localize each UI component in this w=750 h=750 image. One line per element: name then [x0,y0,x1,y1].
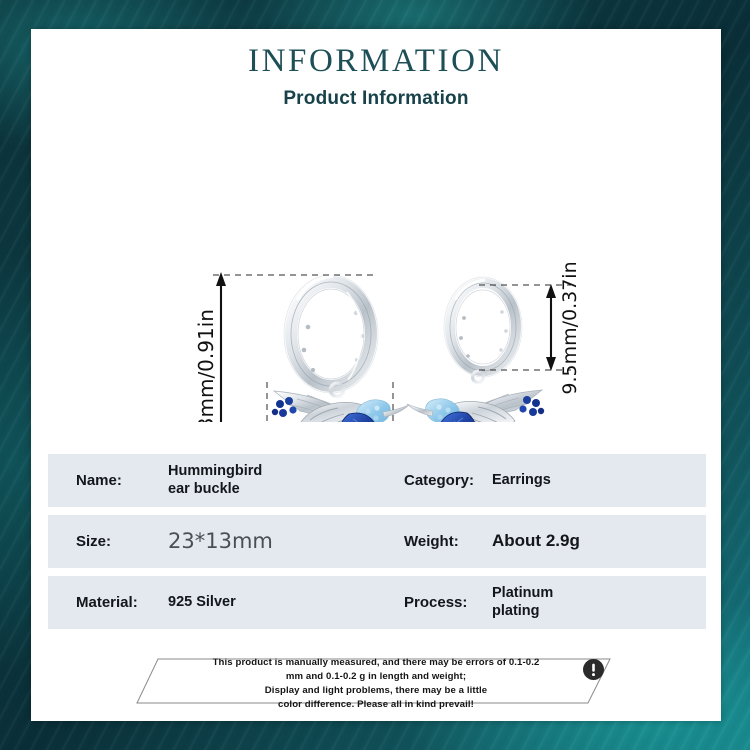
dimension-height-label: 23mm/0.91in [194,309,218,422]
table-row: Material: 925 Silver Process: Platinum p… [48,576,706,629]
product-information-card: INFORMATION Product Information [31,29,721,721]
spec-cell-category: Category: Earrings [396,454,706,507]
right-earring [407,277,544,422]
disclaimer-line-3: Display and light problems, there may be… [71,684,681,698]
table-row: Size: 23*13mm Weight: About 2.9g [48,515,706,568]
spec-value-weight: About 2.9g [492,531,580,552]
page-subtitle: Product Information [31,88,721,110]
dimension-hoop-label: 9.5mm/0.37in [559,262,581,395]
spec-label-weight: Weight: [404,533,492,550]
specification-table: Name: Hummingbird ear buckle Category: E… [48,454,706,637]
hoop-left [284,275,378,393]
spec-cell-process: Process: Platinum plating [396,576,706,629]
spec-cell-material: Material: 925 Silver [48,576,396,629]
alert-exclamation-icon [583,659,604,680]
hummingbird-charm-right [407,390,544,422]
spec-value-material: 925 Silver [168,594,236,612]
spec-cell-size: Size: 23*13mm [48,515,396,568]
spec-cell-name: Name: Hummingbird ear buckle [48,454,396,507]
spec-cell-weight: Weight: About 2.9g [396,515,706,568]
page-title: INFORMATION [31,43,721,79]
disclaimer-banner: This product is manually measured, and t… [31,649,721,721]
spec-label-name: Name: [76,472,168,489]
spec-label-category: Category: [404,472,492,489]
spec-value-process: Platinum plating [492,585,553,620]
spec-value-category: Earrings [492,472,551,490]
spec-value-name: Hummingbird ear buckle [168,463,262,498]
spec-label-size: Size: [76,533,168,550]
spec-label-material: Material: [76,594,168,611]
table-row: Name: Hummingbird ear buckle Category: E… [48,454,706,507]
product-image-area: 23mm/0.91in 13mm/0.51in [31,122,721,422]
headings-block: INFORMATION Product Information [31,29,721,110]
left-earring [272,275,409,422]
spec-value-size: 23*13mm [168,529,273,555]
spec-label-process: Process: [404,594,492,611]
hummingbird-earrings-illustration: 23mm/0.91in 13mm/0.51in [31,122,721,422]
disclaimer-line-4: color difference. Please all in kind pre… [71,698,681,712]
decorative-frame: INFORMATION Product Information [0,0,750,750]
hoop-right [444,277,522,377]
